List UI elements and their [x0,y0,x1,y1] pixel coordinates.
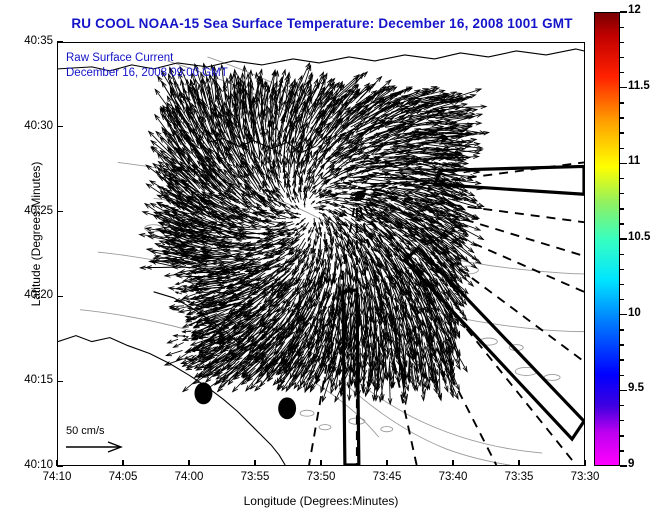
colorbar-minor-tick [620,254,624,255]
colorbar-minor-tick [620,284,624,285]
colorbar-minor-tick [620,435,624,436]
page-title: RU COOL NOAA-15 Sea Surface Temperature:… [57,16,587,31]
colorbar-tick-label: 11 [628,155,640,167]
x-axis-tick [320,460,321,466]
colorbar-minor-tick [620,117,624,118]
colorbar-minor-tick [620,102,624,103]
colorbar[interactable] [594,12,620,466]
colorbar-minor-tick [620,299,624,300]
colorbar-minor-tick [620,72,624,73]
colorbar-minor-tick [620,193,624,194]
colorbar-major-tick [620,314,627,315]
velocity-scale-label: 50 cm/s [66,425,105,437]
colorbar-minor-tick [620,344,624,345]
colorbar-major-tick [620,163,627,164]
velocity-scale-arrow-icon [64,439,134,455]
x-axis-tick-label: 74:05 [93,471,153,483]
colorbar-tick-label: 9 [628,458,634,470]
y-axis-tick [57,296,63,297]
colorbar-major-tick [620,390,627,391]
y-axis-tick [57,465,63,466]
y-axis-tick [57,41,63,42]
y-axis-tick [57,211,63,212]
colorbar-gradient [595,13,619,465]
x-axis-tick-label: 73:40 [423,471,483,483]
colorbar-minor-tick [620,132,624,133]
y-axis-tick-label: 40:25 [0,205,53,217]
colorbar-major-tick [620,238,627,239]
x-axis-label: Longitude (Degrees:Minutes) [57,494,585,508]
y-axis-label: Latitude (Degrees:Minutes) [29,114,43,354]
figure-canvas: RU COOL NOAA-15 Sea Surface Temperature:… [0,0,660,519]
colorbar-major-tick [620,465,627,466]
y-axis-tick [57,381,63,382]
y-axis-tick-label: 40:10 [0,459,53,471]
colorbar-minor-tick [620,420,624,421]
colorbar-tick-label: 9.5 [628,382,644,394]
colorbar-tick-label: 10 [628,307,641,319]
x-axis-tick-label: 73:35 [489,471,549,483]
colorbar-minor-tick [620,57,624,58]
colorbar-major-tick [620,87,627,88]
colorbar-minor-tick [620,375,624,376]
x-axis-tick-label: 73:30 [555,471,615,483]
x-axis-tick [386,460,387,466]
colorbar-minor-tick [620,178,624,179]
y-axis-tick-label: 40:35 [0,35,53,47]
x-axis-tick [254,460,255,466]
map-graphics [58,43,584,465]
colorbar-minor-tick [620,405,624,406]
map-plot-area[interactable]: Raw Surface Current December 16, 2008 09… [57,42,585,466]
x-axis-tick-label: 73:45 [357,471,417,483]
x-axis-tick [122,460,123,466]
x-axis-tick [188,460,189,466]
x-axis-tick-label: 74:00 [159,471,219,483]
x-axis-tick [452,460,453,466]
colorbar-minor-tick [620,359,624,360]
colorbar-tick-label: 10.5 [628,231,650,243]
y-axis-tick-label: 40:30 [0,120,53,132]
radar-station-west [194,382,212,404]
colorbar-minor-tick [620,223,624,224]
y-axis-tick [57,126,63,127]
colorbar-major-tick [620,11,627,12]
surface-current-vectors [140,63,489,404]
colorbar-minor-tick [620,148,624,149]
colorbar-minor-tick [620,450,624,451]
y-axis-tick-label: 40:15 [0,374,53,386]
x-axis-tick-label: 73:55 [225,471,285,483]
annotation-line-2: December 16, 2008 09:00 GMT [66,66,228,81]
colorbar-minor-tick [620,208,624,209]
colorbar-minor-tick [620,269,624,270]
x-axis-tick-label: 74:10 [27,471,87,483]
annotation-line-1: Raw Surface Current [66,51,173,66]
colorbar-minor-tick [620,329,624,330]
colorbar-minor-tick [620,27,624,28]
x-axis-tick-label: 73:50 [291,471,351,483]
colorbar-tick-label: 11.5 [628,80,650,92]
radar-station-east [278,397,296,419]
colorbar-minor-tick [620,42,624,43]
x-axis-tick [518,460,519,466]
colorbar-tick-label: 12 [628,4,641,16]
x-axis-tick [584,460,585,466]
y-axis-tick-label: 40:20 [0,289,53,301]
